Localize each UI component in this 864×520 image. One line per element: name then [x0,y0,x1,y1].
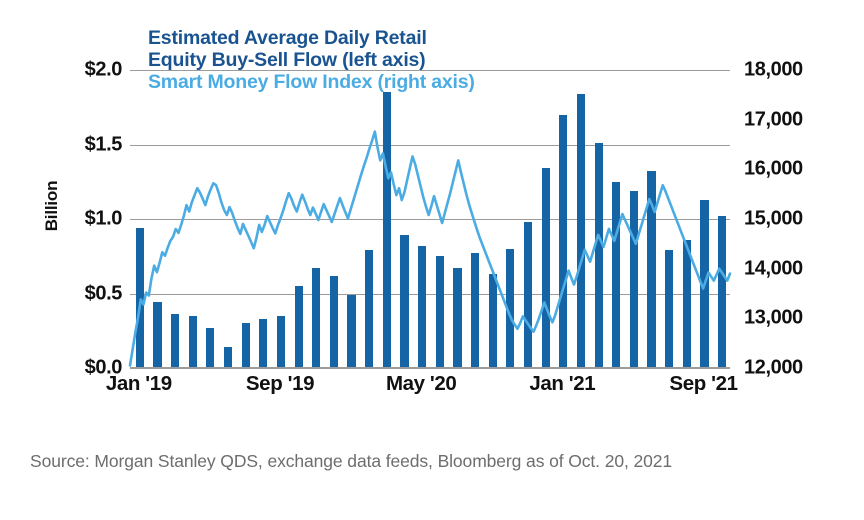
line-series-smart-money-flow-index [130,70,730,368]
y-axis-right-tick: 13,000 [744,307,803,330]
legend-item-retail-flow-line1: Estimated Average Daily Retail [148,28,475,50]
y-axis-right-tick: 18,000 [744,59,803,82]
x-axis-tick: Sep '21 [669,372,737,396]
y-axis-left-tick: $1.0 [85,208,122,231]
chart-figure: Estimated Average Daily Retail Equity Bu… [0,0,864,520]
legend-item-retail-flow-line2: Equity Buy-Sell Flow (left axis) [148,50,475,72]
y-axis-right-tick: 14,000 [744,257,803,280]
y-axis-right-tick: 17,000 [744,108,803,131]
y-axis-left-tick: $0.5 [85,282,122,305]
y-axis-left-title: Billion [42,146,62,266]
smi-polyline [130,132,730,366]
source-note: Source: Morgan Stanley QDS, exchange dat… [30,449,830,474]
y-axis-right-tick: 15,000 [744,208,803,231]
plot-area [130,70,730,368]
x-axis-ticks: Jan '19Sep '19May '20Jan '21Sep '21 [0,372,864,406]
x-axis-line [130,367,730,369]
x-axis-tick: Jan '19 [106,372,172,396]
x-axis-tick: Sep '19 [246,372,314,396]
x-axis-tick: Jan '21 [529,372,595,396]
y-axis-left-tick: $1.5 [85,133,122,156]
y-axis-left-tick: $2.0 [85,59,122,82]
x-axis-tick: May '20 [386,372,456,396]
y-axis-right-tick: 16,000 [744,158,803,181]
